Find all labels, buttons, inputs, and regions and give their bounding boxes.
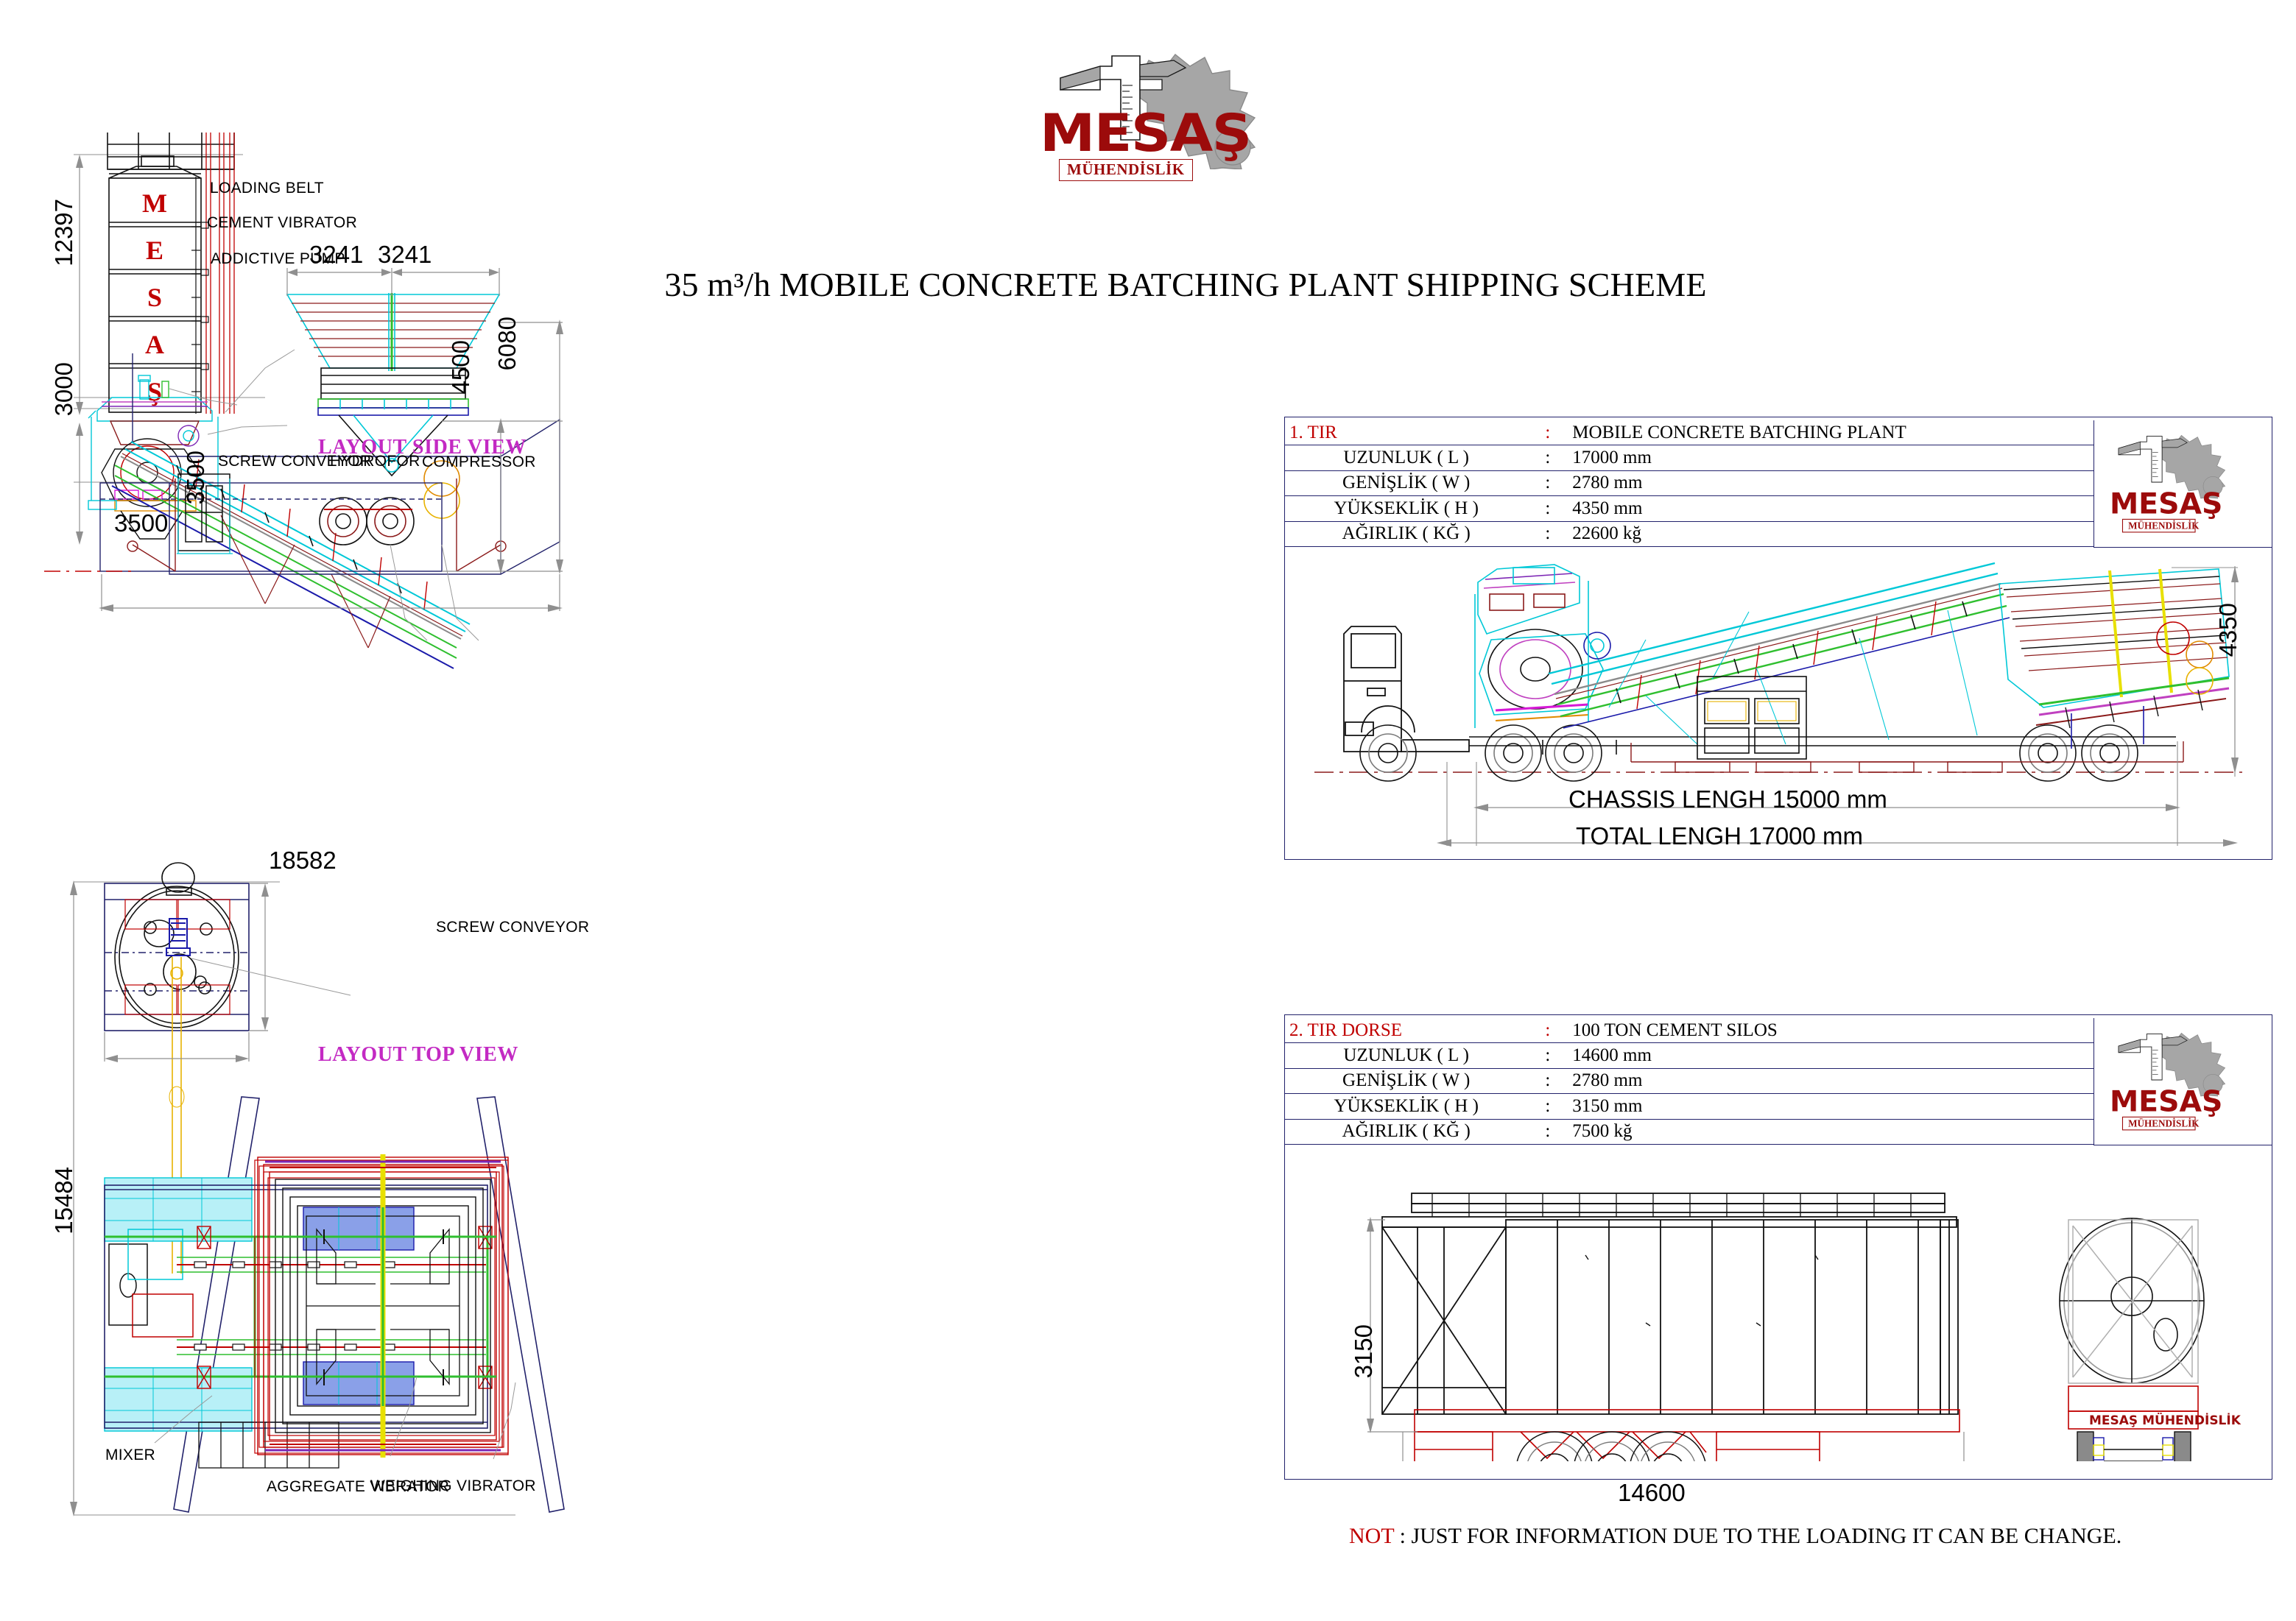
silo-letter-3: A — [145, 330, 164, 359]
logo-subtitle: MÜHENDİSLİK — [1067, 160, 1185, 178]
truck1-row2-value: 4350 mm — [1568, 496, 2093, 521]
table-row: AĞIRLIK ( KĞ ) : 22600 kğ — [1285, 521, 2093, 546]
truck2-logo-cell: MESAŞ MÜHENDİSLİK — [2093, 1018, 2272, 1145]
truck2-row3-value: 7500 kğ — [1568, 1119, 2093, 1144]
table-row: GENİŞLİK ( W ) : 2780 mm — [1285, 470, 2093, 495]
dim-truck1-height: 4350 — [2214, 603, 2242, 657]
truck1-header-value: MOBILE CONCRETE BATCHING PLANT — [1568, 420, 2093, 445]
table-row: YÜKSEKLİK ( H ) : 3150 mm — [1285, 1094, 2093, 1119]
svg-text:MÜHENDİSLİK: MÜHENDİSLİK — [2128, 520, 2200, 531]
truck2-header-value: 100 TON CEMENT SILOS — [1568, 1018, 2093, 1043]
truck2-row0-colon: : — [1527, 1043, 1568, 1068]
truck2-panel: 2. TIR DORSE : 100 TON CEMENT SILOS UZUN… — [1284, 1014, 2272, 1480]
callout-loading-belt: LOADING BELT — [210, 180, 324, 197]
table-row: UZUNLUK ( L ) : 14600 mm — [1285, 1043, 2093, 1068]
dim-truck1-chassis: CHASSIS LENGH 15000 mm — [1568, 785, 1887, 813]
dim-mixer-height: 4500 — [447, 340, 475, 394]
callout-addictive-pump: ADDICTIVE PUMP — [211, 250, 345, 268]
truck1-row2-colon: : — [1527, 496, 1568, 521]
table-row: GENİŞLİK ( W ) : 2780 mm — [1285, 1068, 2093, 1093]
truck2-spec-table-wrap: 2. TIR DORSE : 100 TON CEMENT SILOS UZUN… — [1285, 1018, 2093, 1145]
truck2-row2-label: YÜKSEKLİK ( H ) — [1285, 1094, 1527, 1119]
dim-truck2-length: 14600 — [1618, 1479, 1686, 1507]
truck2-header-label: 2. TIR DORSE — [1285, 1018, 1527, 1043]
truck2-header-colon: : — [1527, 1018, 1568, 1043]
caliper-gear-icon: MESAŞ MÜHENDİSLİK — [2102, 1021, 2271, 1139]
svg-text:MESAŞ: MESAŞ — [2110, 487, 2222, 521]
truck2-row1-colon: : — [1527, 1068, 1568, 1093]
silo-letter-1: E — [146, 236, 163, 265]
truck1-row2-label: YÜKSEKLİK ( H ) — [1285, 496, 1527, 521]
logo-subtitle-box: MÜHENDİSLİK — [1059, 159, 1193, 181]
truck1-header-label: 1. TIR — [1285, 420, 1527, 445]
truck1-row0-label: UZUNLUK ( L ) — [1285, 445, 1527, 470]
table-row-header: 2. TIR DORSE : 100 TON CEMENT SILOS — [1285, 1018, 2093, 1043]
silo-letter-2: S — [147, 283, 162, 312]
dim-base-height: 3000 — [50, 362, 78, 416]
truck2-row0-label: UZUNLUK ( L ) — [1285, 1043, 1527, 1068]
truck2-row1-value: 2780 mm — [1568, 1068, 2093, 1093]
dim-top-overall-width: 15484 — [50, 1167, 78, 1235]
truck1-row3-label: AĞIRLIK ( KĞ ) — [1285, 521, 1527, 546]
silo-letter-0: M — [142, 188, 167, 218]
truck1-row3-colon: : — [1527, 521, 1568, 546]
svg-text:MESAŞ: MESAŞ — [2110, 1085, 2222, 1119]
dim-silo-width: 3500 — [114, 509, 168, 537]
side-view-drawing: M E S A Ş — [44, 133, 1001, 883]
truck1-header-colon: : — [1527, 420, 1568, 445]
caliper-gear-icon: MESAŞ MÜHENDİSLİK — [2102, 423, 2271, 541]
truck2-row2-value: 3150 mm — [1568, 1094, 2093, 1119]
truck2-drawing: MESAŞ MÜHENDİSLİK — [1300, 1152, 2257, 1461]
rear-logo-text: MESAŞ MÜHENDİSLİK — [2089, 1412, 2242, 1428]
truck1-row0-value: 17000 mm — [1568, 445, 2093, 470]
top-view-drawing — [44, 861, 1031, 1605]
truck1-spec-table: 1. TIR : MOBILE CONCRETE BATCHING PLANT … — [1285, 420, 2093, 547]
table-row: UZUNLUK ( L ) : 17000 mm — [1285, 445, 2093, 470]
dim-silo-depth: 3500 — [182, 451, 210, 504]
footer-note-prefix: NOT — [1349, 1524, 1394, 1548]
truck1-panel: 1. TIR : MOBILE CONCRETE BATCHING PLANT … — [1284, 417, 2272, 860]
callout-compressor: COMPRESSOR — [422, 453, 536, 471]
truck2-row2-colon: : — [1527, 1094, 1568, 1119]
callout-mixer: MIXER — [105, 1447, 155, 1464]
table-row: AĞIRLIK ( KĞ ) : 7500 kğ — [1285, 1119, 2093, 1144]
footer-note-text: : JUST FOR INFORMATION DUE TO THE LOADIN… — [1400, 1524, 2122, 1548]
dim-truck2-height: 3150 — [1350, 1324, 1378, 1378]
table-row: YÜKSEKLİK ( H ) : 4350 mm — [1285, 496, 2093, 521]
truck2-row1-label: GENİŞLİK ( W ) — [1285, 1068, 1527, 1093]
truck2-spec-table: 2. TIR DORSE : 100 TON CEMENT SILOS UZUN… — [1285, 1018, 2093, 1145]
footer-note: NOT : JUST FOR INFORMATION DUE TO THE LO… — [1349, 1524, 2121, 1549]
dim-truck1-total: TOTAL LENGH 17000 mm — [1576, 822, 1863, 850]
dim-overall-height: 6080 — [493, 317, 521, 370]
truck1-row1-colon: : — [1527, 470, 1568, 495]
callout-cement-vibrator: CEMENT VIBRATOR — [207, 214, 357, 232]
callout-hydrofor: HYDROFOR — [330, 453, 420, 470]
truck1-row1-value: 2780 mm — [1568, 470, 2093, 495]
truck1-row3-value: 22600 kğ — [1568, 521, 2093, 546]
truck2-row0-value: 14600 mm — [1568, 1043, 2093, 1068]
truck1-spec-table-wrap: 1. TIR : MOBILE CONCRETE BATCHING PLANT … — [1285, 420, 2093, 547]
truck2-row3-colon: : — [1527, 1119, 1568, 1144]
callout-screw-conveyor-top: SCREW CONVEYOR — [436, 919, 589, 936]
dim-silo-height: 12397 — [50, 199, 78, 266]
logo-wordmark: MESAŞ — [1040, 107, 1251, 159]
callout-weighing-vibrator: WEIGHING VIBRATOR — [370, 1477, 536, 1495]
truck1-row1-label: GENİŞLİK ( W ) — [1285, 470, 1527, 495]
truck2-row3-label: AĞIRLIK ( KĞ ) — [1285, 1119, 1527, 1144]
top-view-label: LAYOUT TOP VIEW — [318, 1043, 518, 1067]
svg-text:MÜHENDİSLİK: MÜHENDİSLİK — [2128, 1118, 2200, 1129]
dim-hopper-right: 3241 — [378, 241, 432, 269]
table-row-header: 1. TIR : MOBILE CONCRETE BATCHING PLANT — [1285, 420, 2093, 445]
company-logo: MESAŞ MÜHENDİSLİK — [1029, 44, 1339, 169]
truck1-logo-cell: MESAŞ MÜHENDİSLİK — [2093, 420, 2272, 548]
truck1-row0-colon: : — [1527, 445, 1568, 470]
